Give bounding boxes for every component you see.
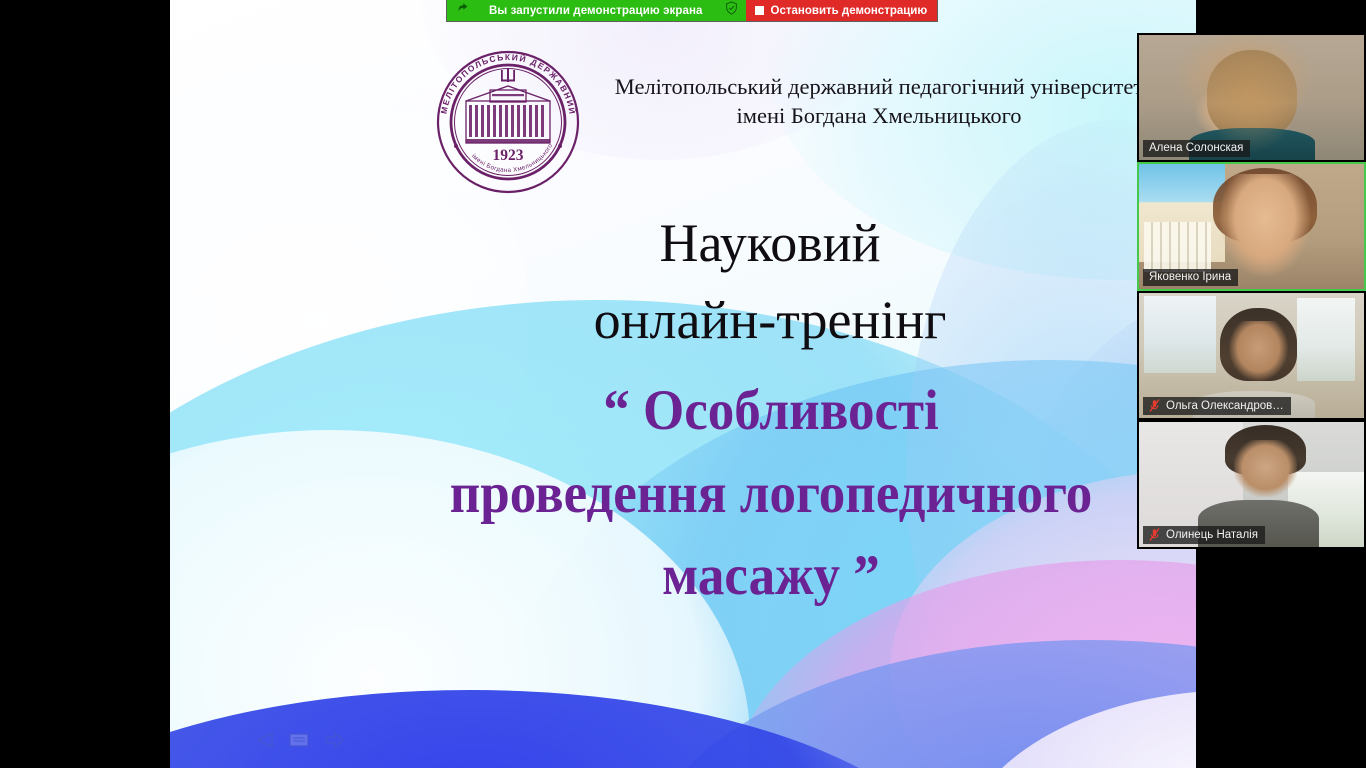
screen-share-arrow-icon [456,2,469,20]
prev-slide-arrow-icon[interactable] [252,730,276,750]
shield-check-icon[interactable] [725,1,738,20]
participant-name: Ольга Олександров… [1166,400,1284,412]
slideshow-menu-icon[interactable] [287,730,311,750]
participant-nameplate: Алена Солонская [1143,140,1250,157]
slide-title-topic: “ Особливості проведення логопедичного м… [301,370,1196,618]
presentation-slide: МЕЛІТОПОЛЬСЬКИЙ ДЕРЖАВНИЙ ПЕДАГОГІЧНИЙ У… [170,0,1196,768]
screen-share-message: Вы запустили демонстрацию экрана [469,5,725,17]
stop-square-icon [755,6,764,15]
next-slide-arrow-icon[interactable] [322,730,346,750]
participant-tile[interactable]: Яковенко Ірина [1137,162,1366,291]
participant-name: Олинець Наталія [1166,529,1258,541]
participant-name: Яковенко Ірина [1149,271,1231,283]
university-name: Мелітопольський державний педагогічний у… [590,72,1168,131]
stop-share-button[interactable]: Остановить демонстрацию [746,0,938,21]
participant-nameplate: Олинець Наталія [1143,526,1265,544]
zoom-screenshare-window: МЕЛІТОПОЛЬСЬКИЙ ДЕРЖАВНИЙ ПЕДАГОГІЧНИЙ У… [0,0,1366,768]
participant-filmstrip: Алена Солонская Яковенко Ірина Ольга Оле… [1137,33,1366,549]
screen-share-banner: Вы запустили демонстрацию экрана Останов… [446,0,938,22]
participant-tile[interactable]: Ольга Олександров… [1137,291,1366,420]
participant-tile[interactable]: Алена Солонская [1137,33,1366,162]
participant-name: Алена Солонская [1149,142,1243,154]
slide-title-primary: Науковий онлайн-тренінг [370,205,1170,359]
slideshow-controls[interactable] [252,730,346,750]
screen-share-status: Вы запустили демонстрацию экрана [447,0,746,21]
svg-text:1923: 1923 [493,147,524,164]
mic-muted-icon [1149,528,1160,541]
university-seal-icon: МЕЛІТОПОЛЬСЬКИЙ ДЕРЖАВНИЙ ПЕДАГОГІЧНИЙ У… [432,46,584,198]
participant-tile[interactable]: Олинець Наталія [1137,420,1366,549]
stop-share-label: Остановить демонстрацию [771,5,928,17]
participant-nameplate: Яковенко Ірина [1143,269,1238,286]
participant-nameplate: Ольга Олександров… [1143,397,1291,415]
mic-muted-icon [1149,399,1160,412]
